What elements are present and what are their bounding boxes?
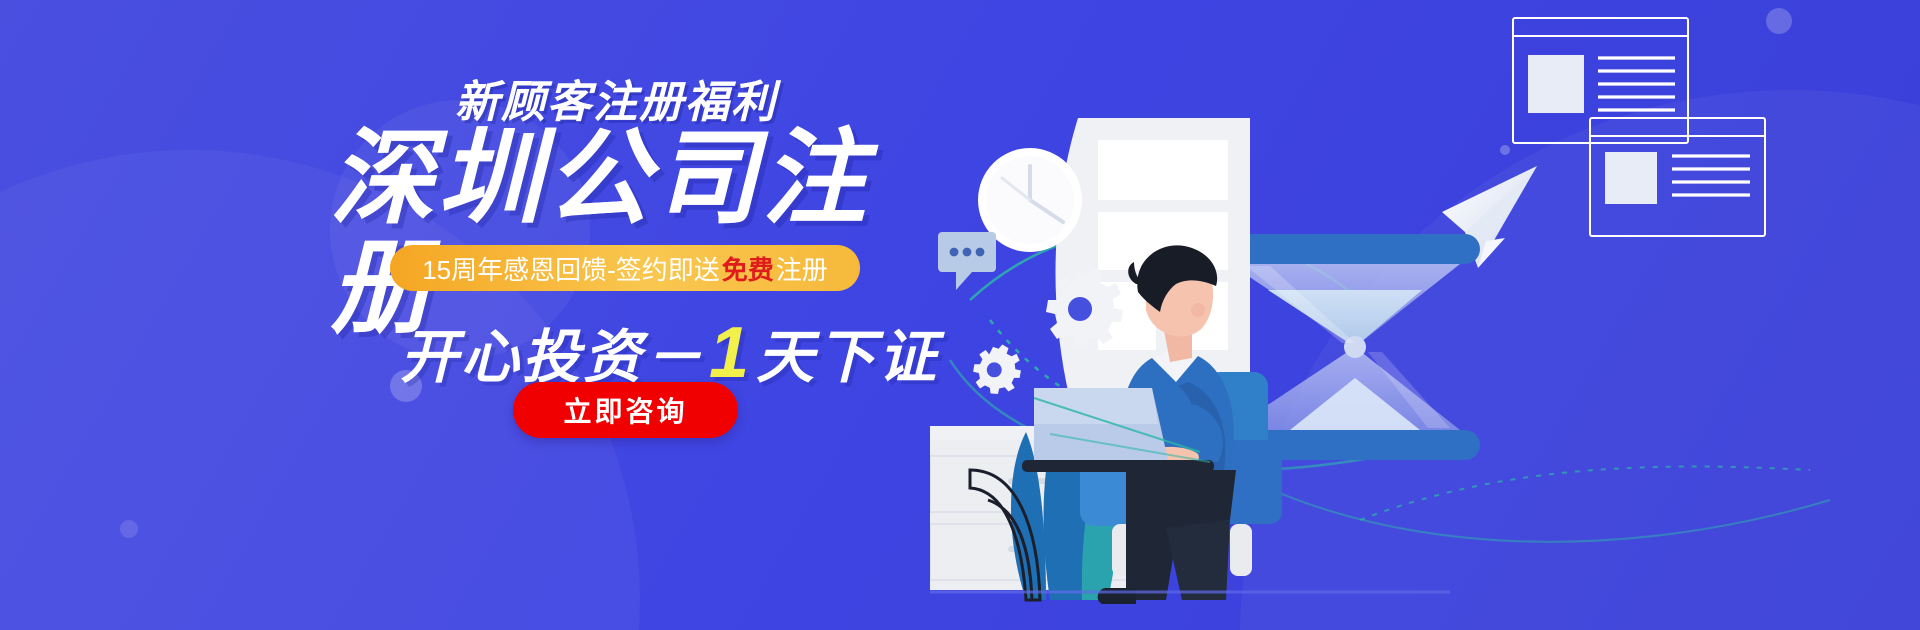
subline-number: 1 — [705, 313, 756, 393]
hero-illustration — [930, 0, 1920, 630]
promo-suffix: 注册 — [776, 250, 828, 287]
document-card-icon — [1513, 18, 1688, 143]
document-card-icon — [1590, 118, 1765, 236]
subline-prefix: 开心投资－ — [400, 325, 705, 390]
promo-prefix: 15周年感恩回馈-签约即送 — [422, 250, 720, 287]
banner-copy: 新顾客注册福利 深圳公司注册 15周年感恩回馈-签约即送 免费 注册 开心投资－… — [0, 0, 960, 630]
promo-badge: 15周年感恩回馈-签约即送 免费 注册 — [390, 245, 860, 291]
promo-banner: 新顾客注册福利 深圳公司注册 15周年感恩回馈-签约即送 免费 注册 开心投资－… — [0, 0, 1920, 630]
chat-bubble-icon — [938, 232, 996, 290]
subline-suffix: 天下证 — [756, 325, 939, 390]
promo-highlight: 免费 — [720, 250, 776, 287]
gear-icon — [973, 344, 1021, 394]
consult-now-button[interactable]: 立即咨询 — [513, 382, 738, 438]
